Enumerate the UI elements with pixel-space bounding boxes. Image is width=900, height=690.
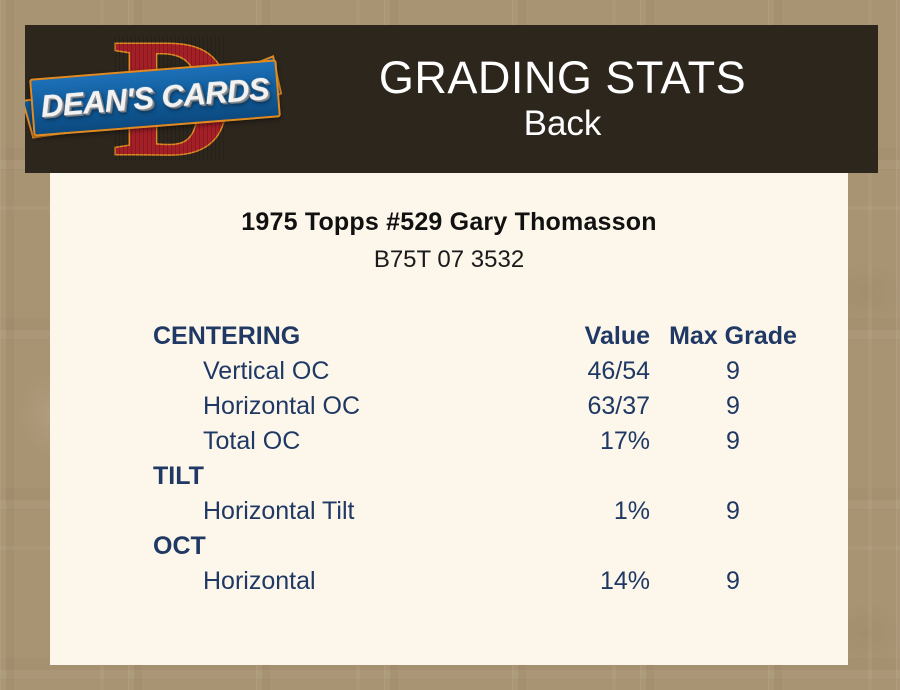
stats-table-header-row: CENTERING Value Max Grade <box>153 319 808 354</box>
page-subtitle: Back <box>283 104 842 144</box>
stats-row: Horizontal OC63/379 <box>153 389 808 424</box>
content-panel: 1975 Topps #529 Gary Thomasson B75T 07 3… <box>50 173 848 665</box>
header-title-group: GRADING STATS Back <box>283 54 878 145</box>
header-bar: D DEAN'S CARDS GRADING STATS Back <box>25 25 878 173</box>
page-title: GRADING STATS <box>283 54 842 101</box>
column-header-category: CENTERING <box>153 319 508 354</box>
column-header-value: Value <box>508 319 658 354</box>
stats-row-label: Vertical OC <box>153 354 508 389</box>
card-serial-number: B75T 07 3532 <box>50 246 848 274</box>
stats-section-grade-spacer <box>658 459 808 494</box>
stats-section-value-spacer <box>508 529 658 564</box>
stats-section-label: OCT <box>153 529 508 564</box>
stats-row-value: 63/37 <box>508 389 658 424</box>
stats-row-label: Horizontal <box>153 564 508 599</box>
stats-row: Horizontal14%9 <box>153 564 808 599</box>
stats-section-row: TILT <box>153 459 808 494</box>
stats-row-label: Total OC <box>153 424 508 459</box>
deans-cards-logo[interactable]: D DEAN'S CARDS <box>25 25 283 173</box>
stats-section-value-spacer <box>508 459 658 494</box>
stats-table-body: Vertical OC46/549Horizontal OC63/379Tota… <box>153 354 808 599</box>
grading-stats-table: CENTERING Value Max Grade Vertical OC46/… <box>153 319 808 599</box>
stats-row-value: 1% <box>508 494 658 529</box>
stats-section-label: TILT <box>153 459 508 494</box>
stats-row-max-grade: 9 <box>658 389 808 424</box>
column-header-max-grade: Max Grade <box>658 319 808 354</box>
stats-row-value: 46/54 <box>508 354 658 389</box>
stats-section-grade-spacer <box>658 529 808 564</box>
stats-row: Total OC17%9 <box>153 424 808 459</box>
stats-row-max-grade: 9 <box>658 424 808 459</box>
stats-section-row: OCT <box>153 529 808 564</box>
stats-row: Horizontal Tilt1%9 <box>153 494 808 529</box>
stats-row-max-grade: 9 <box>658 494 808 529</box>
stats-row-label: Horizontal OC <box>153 389 508 424</box>
stats-row-max-grade: 9 <box>658 354 808 389</box>
card-title: 1975 Topps #529 Gary Thomasson <box>50 208 848 237</box>
stats-table-head: CENTERING Value Max Grade <box>153 319 808 354</box>
stats-row-max-grade: 9 <box>658 564 808 599</box>
stats-row-label: Horizontal Tilt <box>153 494 508 529</box>
stats-row-value: 14% <box>508 564 658 599</box>
stats-row-value: 17% <box>508 424 658 459</box>
stats-row: Vertical OC46/549 <box>153 354 808 389</box>
logo-wordmark: DEAN'S CARDS <box>29 59 281 136</box>
